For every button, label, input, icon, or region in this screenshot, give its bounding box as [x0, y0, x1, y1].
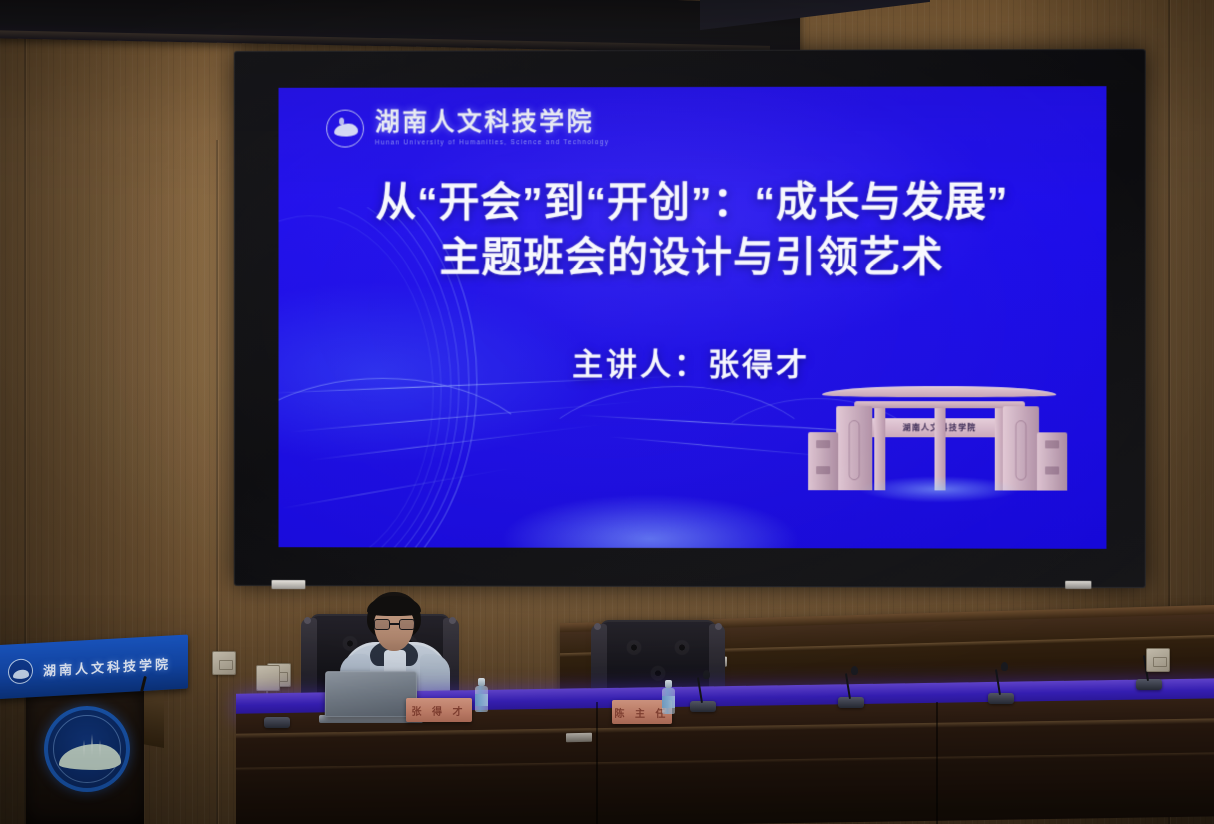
gate-wing-bar — [816, 466, 830, 474]
bottle-label — [475, 694, 488, 706]
lectern-podium[interactable]: 湖南人文科技学院 — [0, 640, 204, 824]
gate-pier-slot — [1015, 420, 1026, 480]
gate-wing-bar — [1045, 466, 1059, 474]
slide-title-line-1: 从“开会”到“开创”：“成长与发展” — [375, 179, 1008, 226]
crane-emblem-icon — [326, 110, 364, 148]
presentation-slide: 湖南人文科技学院 Hunan University of Humanities,… — [279, 86, 1107, 549]
desk-seam — [936, 702, 938, 824]
microphone-head — [851, 666, 858, 675]
bottle-cap — [478, 678, 485, 686]
university-seal-icon — [44, 706, 130, 792]
microphone-stem — [845, 673, 851, 699]
desk-microphone-4[interactable] — [988, 664, 1018, 704]
bottle-label — [662, 696, 675, 708]
laptop[interactable] — [325, 671, 417, 717]
podium-side-panel — [142, 684, 164, 748]
bottle-cap — [665, 680, 672, 688]
desk-microphone-1[interactable] — [264, 688, 294, 728]
gate-ground-glow — [860, 476, 1017, 502]
screen-badge-left — [272, 580, 306, 589]
slide-title: 从“开会”到“开创”：“成长与发展” 主题班会的设计与引领艺术 — [279, 174, 1107, 284]
microphone-stem — [697, 677, 703, 703]
podium-banner: 湖南人文科技学院 — [0, 635, 188, 700]
university-logo: 湖南人文科技学院 Hunan University of Humanities,… — [326, 109, 609, 147]
gate-wing-bar — [816, 440, 830, 448]
name-plate-left: 张 得 才 — [406, 698, 472, 722]
gate-roof-beam — [822, 386, 1056, 397]
microphone-head — [703, 670, 710, 679]
microphone-stem — [995, 669, 1001, 695]
chair-knob — [304, 617, 311, 624]
screen-badge-right — [1065, 581, 1091, 589]
slide-title-line-2: 主题班会的设计与引领艺术 — [279, 229, 1107, 284]
water-bottle-left[interactable] — [475, 678, 488, 712]
laptop-lid — [325, 671, 417, 717]
microphone-head — [1001, 662, 1008, 671]
chair-knob — [594, 623, 601, 630]
name-plate-left-text: 张 得 才 — [412, 703, 467, 718]
desk-microphone-3[interactable] — [838, 668, 868, 708]
glasses-icon — [374, 619, 415, 630]
podium-emblem-icon — [8, 658, 33, 684]
wall-outlet[interactable] — [212, 651, 236, 675]
projection-screen-display: 湖南人文科技学院 Hunan University of Humanities,… — [279, 86, 1107, 549]
microphone-base — [690, 701, 716, 712]
microphone-base — [1136, 679, 1162, 690]
campus-gate-illustration: 湖南人文科技学院 — [816, 378, 1062, 497]
lecture-hall-scene: 湖南人文科技学院 Hunan University of Humanities,… — [0, 0, 1214, 824]
microphone-base — [988, 693, 1014, 704]
desk-seam — [596, 702, 598, 824]
gate-wing-bar — [1045, 440, 1059, 448]
gate-pier-slot — [849, 420, 860, 480]
microphone-base — [264, 717, 290, 728]
gate-wing-right — [1037, 432, 1067, 490]
university-name-en: Hunan University of Humanities, Science … — [375, 139, 609, 146]
wall-outlet[interactable] — [1146, 648, 1170, 672]
chair-knob — [715, 623, 722, 630]
water-bottle-right[interactable] — [662, 680, 675, 714]
microphone-base — [838, 697, 864, 708]
desk-microphone-2[interactable] — [690, 672, 720, 712]
desk-name-plate — [566, 733, 592, 742]
gate-wing-left — [808, 432, 838, 490]
projection-screen-frame: 湖南人文科技学院 Hunan University of Humanities,… — [234, 49, 1146, 588]
podium-banner-text: 湖南人文科技学院 — [43, 653, 171, 679]
slide-bottom-glow — [500, 494, 800, 549]
university-name-cn: 湖南人文科技学院 — [375, 110, 609, 135]
